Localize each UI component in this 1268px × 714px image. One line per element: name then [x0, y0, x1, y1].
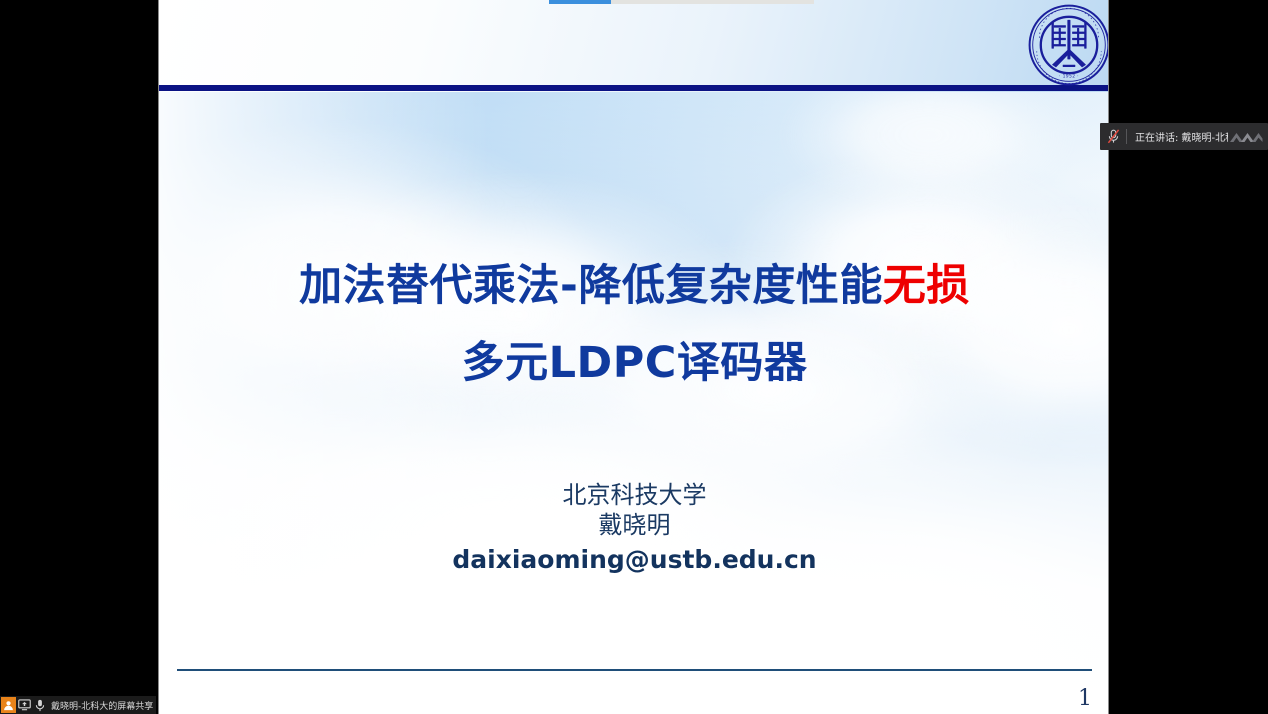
slide-page-number: 1	[1078, 686, 1092, 711]
active-speaker-label: 正在讲话: 戴晓明-北科大;	[1127, 129, 1228, 144]
slide-author-block: 北京科技大学 戴晓明 daixiaoming@ustb.edu.cn	[159, 480, 1109, 578]
slide-title-line-1-highlight: 无损	[883, 261, 970, 311]
slide-title-line-1-main: 加法替代乘法-降低复杂度性能	[299, 261, 883, 311]
active-speaker-overlay[interactable]: 正在讲话: 戴晓明-北科大;	[1100, 123, 1268, 150]
screen-root: · 1952 · 加法替代乘法-降低复杂度性能无损 多元LDPC译码器 北京科技…	[0, 0, 1268, 714]
taskbar-share-label: 戴晓明-北科大的屏幕共享	[51, 699, 153, 712]
microphone-muted-icon[interactable]	[1100, 123, 1126, 150]
slide-title-line-2: 多元LDPC译码器	[159, 325, 1109, 402]
presenter-name: 戴晓明	[159, 510, 1109, 540]
participant-icon[interactable]	[1, 697, 16, 713]
slide-title-block: 加法替代乘法-降低复杂度性能无损 多元LDPC译码器	[159, 248, 1109, 402]
slide-progress-fill	[549, 0, 611, 4]
screen-share-icon[interactable]	[16, 697, 32, 713]
presenter-email: daixiaoming@ustb.edu.cn	[159, 542, 1109, 578]
shared-slide-surface[interactable]: · 1952 · 加法替代乘法-降低复杂度性能无损 多元LDPC译码器 北京科技…	[158, 0, 1109, 714]
audio-level-icon	[1228, 123, 1268, 150]
slide-footer-rule	[177, 669, 1092, 671]
affiliation-text: 北京科技大学	[159, 480, 1109, 510]
slide-header-rule	[159, 85, 1109, 91]
slide-title-line-1: 加法替代乘法-降低复杂度性能无损	[159, 248, 1109, 325]
ustb-university-seal-icon: · 1952 ·	[1023, 2, 1109, 88]
slide-header-band	[159, 0, 1109, 92]
microphone-icon[interactable]	[32, 697, 48, 713]
screen-share-taskbar[interactable]: 戴晓明-北科大的屏幕共享	[0, 696, 156, 714]
svg-text:· 1952 ·: · 1952 ·	[1059, 73, 1079, 79]
